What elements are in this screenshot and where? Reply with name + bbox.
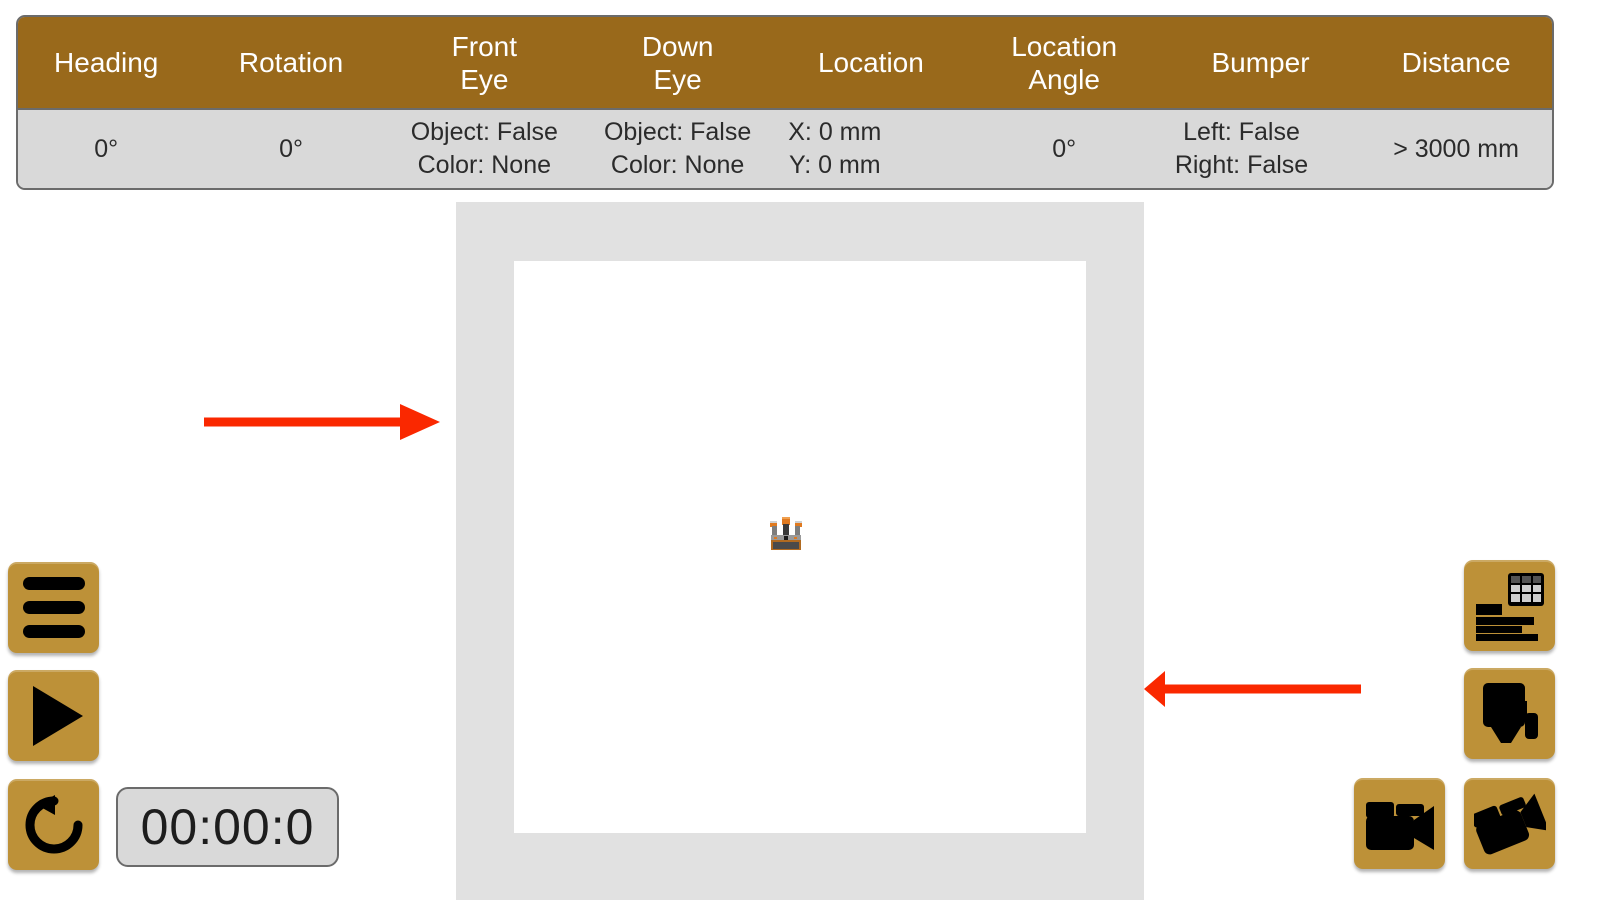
timer-display: 00:00:0 xyxy=(116,787,339,867)
reset-rotate-icon xyxy=(22,793,86,857)
value-front-eye: Object: False Color: None xyxy=(388,110,581,188)
column-header-front-eye: Front Eye xyxy=(388,17,581,108)
telemetry-value-row: 0° 0° Object: False Color: None Object: … xyxy=(18,110,1552,188)
value-down-eye: Object: False Color: None xyxy=(581,110,774,188)
column-header-heading: Heading xyxy=(18,17,194,108)
tilted-camera-icon xyxy=(1474,791,1546,857)
arrow-pointing-right xyxy=(200,398,445,446)
column-header-down-eye: Down Eye xyxy=(581,17,774,108)
value-location: X: 0 mm Y: 0 mm xyxy=(774,110,967,188)
column-header-bumper: Bumper xyxy=(1161,17,1360,108)
reset-button[interactable] xyxy=(8,779,99,870)
robot-glyph xyxy=(766,515,806,553)
column-header-location: Location xyxy=(774,17,967,108)
gripper-icon xyxy=(1475,679,1545,749)
telemetry-header-row: Heading Rotation Front Eye Down Eye Loca… xyxy=(18,17,1552,110)
column-header-rotation: Rotation xyxy=(194,17,387,108)
value-rotation: 0° xyxy=(194,110,387,188)
hamburger-icon xyxy=(23,577,85,638)
telemetry-table: Heading Rotation Front Eye Down Eye Loca… xyxy=(16,15,1554,190)
column-header-location-angle: Location Angle xyxy=(968,17,1161,108)
report-button[interactable] xyxy=(1464,560,1555,651)
play-button[interactable] xyxy=(8,670,99,761)
value-location-angle: 0° xyxy=(968,110,1161,188)
column-header-distance: Distance xyxy=(1360,17,1552,108)
menu-button[interactable] xyxy=(8,562,99,653)
camera-button[interactable] xyxy=(1464,778,1555,869)
gripper-button[interactable] xyxy=(1464,668,1555,759)
timer-value: 00:00:0 xyxy=(141,798,315,856)
report-table-icon xyxy=(1474,571,1546,641)
video-camera-button[interactable] xyxy=(1354,778,1445,869)
value-heading: 0° xyxy=(18,110,194,188)
value-distance: > 3000 mm xyxy=(1360,110,1552,188)
video-camera-icon xyxy=(1364,794,1436,854)
robot-sprite[interactable] xyxy=(766,515,806,553)
play-icon xyxy=(33,686,83,746)
value-bumper: Left: False Right: False xyxy=(1161,110,1360,188)
arrow-pointing-left xyxy=(1140,665,1365,713)
